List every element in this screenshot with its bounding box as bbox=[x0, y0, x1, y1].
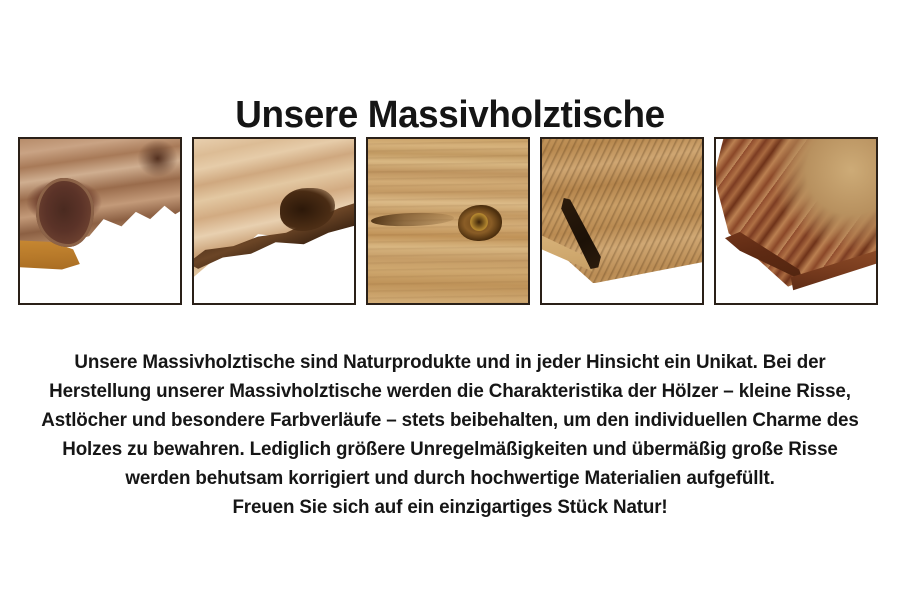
description-line: Herstellung unserer Massivholztische wer… bbox=[16, 377, 885, 406]
wood-knot-shape-icon bbox=[36, 178, 94, 247]
page-title: Unsere Massivholztische bbox=[14, 93, 887, 137]
wood-sample-image-1 bbox=[20, 139, 180, 303]
wood-sample-panel-3[interactable] bbox=[366, 137, 530, 305]
description-line: Unsere Massivholztische sind Naturproduk… bbox=[16, 348, 885, 377]
wood-sample-image-5 bbox=[716, 139, 876, 303]
wood-sample-image-4 bbox=[542, 139, 702, 303]
description-text: Unsere Massivholztische sind Naturproduk… bbox=[0, 348, 900, 522]
description-line: werden behutsam korrigiert und durch hoc… bbox=[16, 464, 885, 493]
wood-sample-panel-5[interactable] bbox=[714, 137, 878, 305]
description-line: Freuen Sie sich auf ein einzigartiges St… bbox=[16, 493, 885, 522]
wood-sample-panel-2[interactable] bbox=[192, 137, 356, 305]
description-line: Astlöcher und besondere Farbverläufe – s… bbox=[16, 406, 885, 435]
product-info-page: Unsere Massivholztische bbox=[0, 0, 900, 600]
wood-sample-gallery bbox=[18, 137, 878, 305]
description-line: Holzes zu bewahren. Lediglich größere Un… bbox=[16, 435, 885, 464]
wood-sample-panel-1[interactable] bbox=[18, 137, 182, 305]
wood-knot-core-icon bbox=[470, 213, 488, 231]
wood-sample-image-2 bbox=[194, 139, 354, 303]
wood-sample-image-3 bbox=[368, 139, 528, 303]
wood-sample-panel-4[interactable] bbox=[540, 137, 704, 305]
